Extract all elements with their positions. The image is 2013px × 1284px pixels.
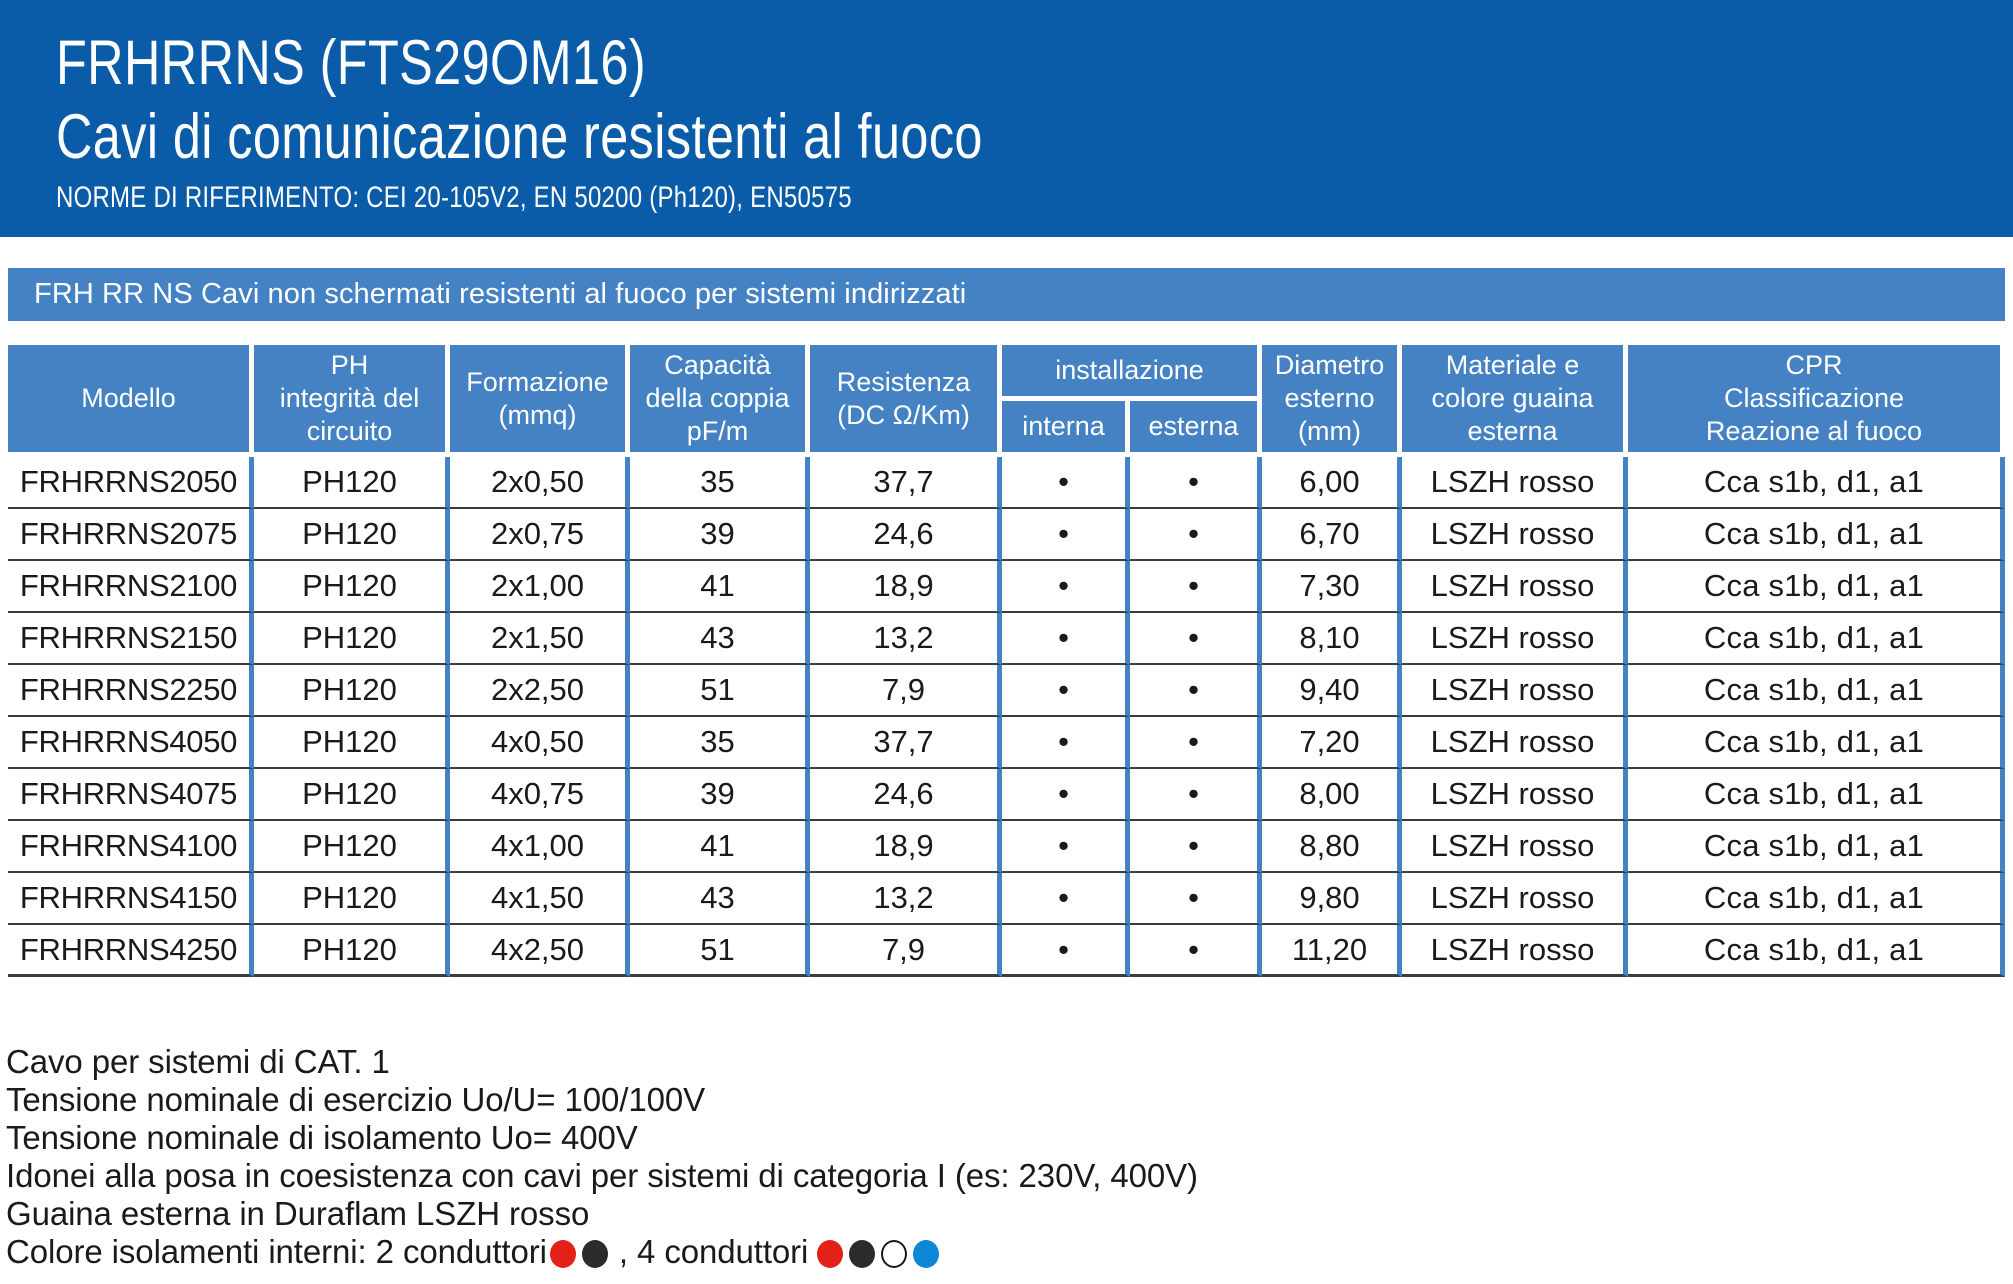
cell-modello: FRHRRNS2100 bbox=[8, 561, 254, 613]
cell-materiale: LSZH rosso bbox=[1402, 821, 1628, 873]
col-header-installazione-interna: interna bbox=[1002, 401, 1130, 457]
cell-resistenza: 37,7 bbox=[810, 457, 1002, 509]
table-head: Modello PH integrità del circuito Formaz… bbox=[8, 345, 2005, 457]
cell-materiale: LSZH rosso bbox=[1402, 925, 1628, 977]
cell-diametro: 8,00 bbox=[1262, 769, 1402, 821]
col-header-ph-line1: PH bbox=[256, 349, 443, 382]
cell-formazione: 2x1,00 bbox=[450, 561, 630, 613]
col-header-diametro-line2: esterno bbox=[1264, 382, 1395, 415]
col-header-diametro: Diametro esterno (mm) bbox=[1262, 345, 1402, 457]
cell-ph: PH120 bbox=[254, 613, 450, 665]
col-header-capacita: Capacità della coppia pF/m bbox=[630, 345, 810, 457]
cell-capacita: 43 bbox=[630, 613, 810, 665]
col-header-installazione: installazione bbox=[1002, 345, 1262, 401]
cell-formazione: 2x1,50 bbox=[450, 613, 630, 665]
col-header-materiale-line2: colore guaina bbox=[1404, 382, 1621, 415]
table-header-row-main: Modello PH integrità del circuito Formaz… bbox=[8, 345, 2005, 401]
col-header-esterna-label: esterna bbox=[1132, 410, 1255, 443]
cell-diametro: 9,40 bbox=[1262, 665, 1402, 717]
cell-interna: • bbox=[1002, 717, 1130, 769]
cell-cpr: Cca s1b, d1, a1 bbox=[1628, 717, 2005, 769]
cell-cpr: Cca s1b, d1, a1 bbox=[1628, 509, 2005, 561]
cell-ph: PH120 bbox=[254, 717, 450, 769]
cell-diametro: 11,20 bbox=[1262, 925, 1402, 977]
table-row: FRHRRNS2250PH1202x2,50517,9••9,40LSZH ro… bbox=[8, 665, 2005, 717]
note-line-conductor-colors: Colore isolamenti interni: 2 conduttori … bbox=[6, 1233, 1706, 1271]
cell-ph: PH120 bbox=[254, 769, 450, 821]
cell-capacita: 35 bbox=[630, 717, 810, 769]
conductor-swatches-4 bbox=[814, 1233, 942, 1271]
cell-esterna: • bbox=[1130, 613, 1262, 665]
cell-modello: FRHRRNS2250 bbox=[8, 665, 254, 717]
conductor-colors-prefix: Colore isolamenti interni: 2 conduttori bbox=[6, 1233, 547, 1271]
col-header-capacita-line2: della coppia bbox=[632, 382, 803, 415]
table-row: FRHRRNS2150PH1202x1,504313,2••8,10LSZH r… bbox=[8, 613, 2005, 665]
cell-formazione: 4x0,75 bbox=[450, 769, 630, 821]
product-family-label: FRH RR NS Cavi non schermati resistenti … bbox=[34, 278, 966, 311]
col-header-installazione-esterna: esterna bbox=[1130, 401, 1262, 457]
cell-capacita: 41 bbox=[630, 821, 810, 873]
conductor-swatches-2 bbox=[547, 1233, 611, 1271]
note-line-5: Guaina esterna in Duraflam LSZH rosso bbox=[6, 1195, 1706, 1233]
table-row: FRHRRNS4250PH1204x2,50517,9••11,20LSZH r… bbox=[8, 925, 2005, 977]
cell-esterna: • bbox=[1130, 821, 1262, 873]
col-header-cpr: CPR Classificazione Reazione al fuoco bbox=[1628, 345, 2005, 457]
reference-standards: NORME DI RIFERIMENTO: CEI 20-105V2, EN 5… bbox=[56, 174, 1622, 222]
cell-modello: FRHRRNS2075 bbox=[8, 509, 254, 561]
footer-notes: Cavo per sistemi di CAT. 1 Tensione nomi… bbox=[6, 1043, 1706, 1271]
table-row: FRHRRNS2050PH1202x0,503537,7••6,00LSZH r… bbox=[8, 457, 2005, 509]
conductor-color-swatch-blue bbox=[913, 1240, 939, 1268]
col-header-ph: PH integrità del circuito bbox=[254, 345, 450, 457]
col-header-materiale: Materiale e colore guaina esterna bbox=[1402, 345, 1628, 457]
cell-interna: • bbox=[1002, 821, 1130, 873]
datasheet-page: FRHRRNS (FTS29OM16) Cavi di comunicazion… bbox=[0, 0, 2013, 1284]
cell-esterna: • bbox=[1130, 561, 1262, 613]
col-header-cpr-line1: CPR bbox=[1630, 349, 1998, 382]
cell-materiale: LSZH rosso bbox=[1402, 665, 1628, 717]
col-header-modello: Modello bbox=[8, 345, 254, 457]
cell-ph: PH120 bbox=[254, 925, 450, 977]
conductor-color-swatch-red bbox=[550, 1240, 576, 1268]
cell-esterna: • bbox=[1130, 665, 1262, 717]
col-header-formazione: Formazione (mmq) bbox=[450, 345, 630, 457]
cell-cpr: Cca s1b, d1, a1 bbox=[1628, 821, 2005, 873]
col-header-resistenza-line2: (DC Ω/Km) bbox=[812, 399, 995, 432]
col-header-materiale-line1: Materiale e bbox=[1404, 349, 1621, 382]
col-header-cpr-line3: Reazione al fuoco bbox=[1630, 415, 1998, 448]
cell-resistenza: 24,6 bbox=[810, 769, 1002, 821]
cell-ph: PH120 bbox=[254, 665, 450, 717]
col-header-materiale-line3: esterna bbox=[1404, 415, 1621, 448]
cell-ph: PH120 bbox=[254, 457, 450, 509]
col-header-modello-label: Modello bbox=[10, 382, 247, 415]
conductor-color-swatch-black bbox=[849, 1240, 875, 1268]
table-row: FRHRRNS2075PH1202x0,753924,6••6,70LSZH r… bbox=[8, 509, 2005, 561]
cell-cpr: Cca s1b, d1, a1 bbox=[1628, 873, 2005, 925]
cell-formazione: 4x1,00 bbox=[450, 821, 630, 873]
col-header-formazione-line1: Formazione bbox=[452, 366, 623, 399]
cell-diametro: 9,80 bbox=[1262, 873, 1402, 925]
cell-esterna: • bbox=[1130, 717, 1262, 769]
cell-cpr: Cca s1b, d1, a1 bbox=[1628, 665, 2005, 717]
col-header-capacita-line3: pF/m bbox=[632, 415, 803, 448]
cell-diametro: 8,10 bbox=[1262, 613, 1402, 665]
cell-formazione: 2x2,50 bbox=[450, 665, 630, 717]
cell-resistenza: 18,9 bbox=[810, 821, 1002, 873]
specifications-table-wrapper: Modello PH integrità del circuito Formaz… bbox=[8, 345, 2005, 977]
cell-modello: FRHRRNS4075 bbox=[8, 769, 254, 821]
cell-ph: PH120 bbox=[254, 873, 450, 925]
cell-interna: • bbox=[1002, 457, 1130, 509]
cell-formazione: 2x0,50 bbox=[450, 457, 630, 509]
cell-modello: FRHRRNS2050 bbox=[8, 457, 254, 509]
col-header-capacita-line1: Capacità bbox=[632, 349, 803, 382]
cell-materiale: LSZH rosso bbox=[1402, 873, 1628, 925]
cell-diametro: 6,00 bbox=[1262, 457, 1402, 509]
cell-materiale: LSZH rosso bbox=[1402, 457, 1628, 509]
cell-capacita: 39 bbox=[630, 769, 810, 821]
cell-interna: • bbox=[1002, 873, 1130, 925]
cell-cpr: Cca s1b, d1, a1 bbox=[1628, 561, 2005, 613]
table-body: FRHRRNS2050PH1202x0,503537,7••6,00LSZH r… bbox=[8, 457, 2005, 977]
cell-formazione: 4x0,50 bbox=[450, 717, 630, 769]
cell-interna: • bbox=[1002, 613, 1130, 665]
cell-esterna: • bbox=[1130, 769, 1262, 821]
col-header-interna-label: interna bbox=[1004, 410, 1123, 443]
conductor-color-swatch-white bbox=[881, 1240, 907, 1268]
cell-diametro: 8,80 bbox=[1262, 821, 1402, 873]
cell-resistenza: 7,9 bbox=[810, 925, 1002, 977]
cell-interna: • bbox=[1002, 925, 1130, 977]
cell-formazione: 4x2,50 bbox=[450, 925, 630, 977]
cell-modello: FRHRRNS4100 bbox=[8, 821, 254, 873]
cell-cpr: Cca s1b, d1, a1 bbox=[1628, 613, 2005, 665]
col-header-diametro-line3: (mm) bbox=[1264, 415, 1395, 448]
cell-materiale: LSZH rosso bbox=[1402, 561, 1628, 613]
cell-ph: PH120 bbox=[254, 821, 450, 873]
note-line-2: Tensione nominale di esercizio Uo/U= 100… bbox=[6, 1081, 1706, 1119]
cell-cpr: Cca s1b, d1, a1 bbox=[1628, 925, 2005, 977]
cell-resistenza: 13,2 bbox=[810, 873, 1002, 925]
product-header-band: FRHRRNS (FTS29OM16) Cavi di comunicazion… bbox=[0, 0, 2013, 237]
product-family-band: FRH RR NS Cavi non schermati resistenti … bbox=[8, 268, 2005, 321]
cell-materiale: LSZH rosso bbox=[1402, 509, 1628, 561]
cell-diametro: 7,20 bbox=[1262, 717, 1402, 769]
cell-capacita: 39 bbox=[630, 509, 810, 561]
cell-modello: FRHRRNS2150 bbox=[8, 613, 254, 665]
cell-capacita: 41 bbox=[630, 561, 810, 613]
specifications-table: Modello PH integrità del circuito Formaz… bbox=[8, 345, 2005, 977]
cell-materiale: LSZH rosso bbox=[1402, 717, 1628, 769]
cell-resistenza: 13,2 bbox=[810, 613, 1002, 665]
cell-formazione: 4x1,50 bbox=[450, 873, 630, 925]
col-header-resistenza: Resistenza (DC Ω/Km) bbox=[810, 345, 1002, 457]
product-description: Cavi di comunicazione resistenti al fuoc… bbox=[56, 100, 1622, 174]
col-header-cpr-line2: Classificazione bbox=[1630, 382, 1998, 415]
cell-formazione: 2x0,75 bbox=[450, 509, 630, 561]
table-row: FRHRRNS4050PH1204x0,503537,7••7,20LSZH r… bbox=[8, 717, 2005, 769]
cell-capacita: 35 bbox=[630, 457, 810, 509]
cell-esterna: • bbox=[1130, 873, 1262, 925]
cell-diametro: 6,70 bbox=[1262, 509, 1402, 561]
cell-ph: PH120 bbox=[254, 561, 450, 613]
table-row: FRHRRNS2100PH1202x1,004118,9••7,30LSZH r… bbox=[8, 561, 2005, 613]
cell-capacita: 43 bbox=[630, 873, 810, 925]
cell-interna: • bbox=[1002, 509, 1130, 561]
cell-materiale: LSZH rosso bbox=[1402, 613, 1628, 665]
note-line-4: Idonei alla posa in coesistenza con cavi… bbox=[6, 1157, 1706, 1195]
table-row: FRHRRNS4150PH1204x1,504313,2••9,80LSZH r… bbox=[8, 873, 2005, 925]
table-row: FRHRRNS4100PH1204x1,004118,9••8,80LSZH r… bbox=[8, 821, 2005, 873]
cell-resistenza: 37,7 bbox=[810, 717, 1002, 769]
cell-resistenza: 7,9 bbox=[810, 665, 1002, 717]
cell-interna: • bbox=[1002, 561, 1130, 613]
cell-modello: FRHRRNS4250 bbox=[8, 925, 254, 977]
conductor-colors-middle: , 4 conduttori bbox=[611, 1233, 814, 1271]
cell-capacita: 51 bbox=[630, 665, 810, 717]
col-header-ph-line3: circuito bbox=[256, 415, 443, 448]
cell-resistenza: 18,9 bbox=[810, 561, 1002, 613]
note-line-1: Cavo per sistemi di CAT. 1 bbox=[6, 1043, 1706, 1081]
cell-modello: FRHRRNS4150 bbox=[8, 873, 254, 925]
col-header-ph-line2: integrità del bbox=[256, 382, 443, 415]
conductor-color-swatch-red bbox=[817, 1240, 843, 1268]
col-header-formazione-line2: (mmq) bbox=[452, 399, 623, 432]
conductor-color-swatch-black bbox=[582, 1240, 608, 1268]
cell-ph: PH120 bbox=[254, 509, 450, 561]
cell-capacita: 51 bbox=[630, 925, 810, 977]
cell-materiale: LSZH rosso bbox=[1402, 769, 1628, 821]
cell-cpr: Cca s1b, d1, a1 bbox=[1628, 457, 2005, 509]
cell-interna: • bbox=[1002, 665, 1130, 717]
col-header-diametro-line1: Diametro bbox=[1264, 349, 1395, 382]
product-code-title: FRHRRNS (FTS29OM16) bbox=[56, 26, 1622, 100]
cell-modello: FRHRRNS4050 bbox=[8, 717, 254, 769]
cell-esterna: • bbox=[1130, 925, 1262, 977]
cell-interna: • bbox=[1002, 769, 1130, 821]
cell-diametro: 7,30 bbox=[1262, 561, 1402, 613]
note-line-3: Tensione nominale di isolamento Uo= 400V bbox=[6, 1119, 1706, 1157]
table-row: FRHRRNS4075PH1204x0,753924,6••8,00LSZH r… bbox=[8, 769, 2005, 821]
col-header-resistenza-line1: Resistenza bbox=[812, 366, 995, 399]
cell-esterna: • bbox=[1130, 457, 1262, 509]
cell-esterna: • bbox=[1130, 509, 1262, 561]
col-header-installazione-label: installazione bbox=[1004, 354, 1255, 387]
cell-resistenza: 24,6 bbox=[810, 509, 1002, 561]
cell-cpr: Cca s1b, d1, a1 bbox=[1628, 769, 2005, 821]
